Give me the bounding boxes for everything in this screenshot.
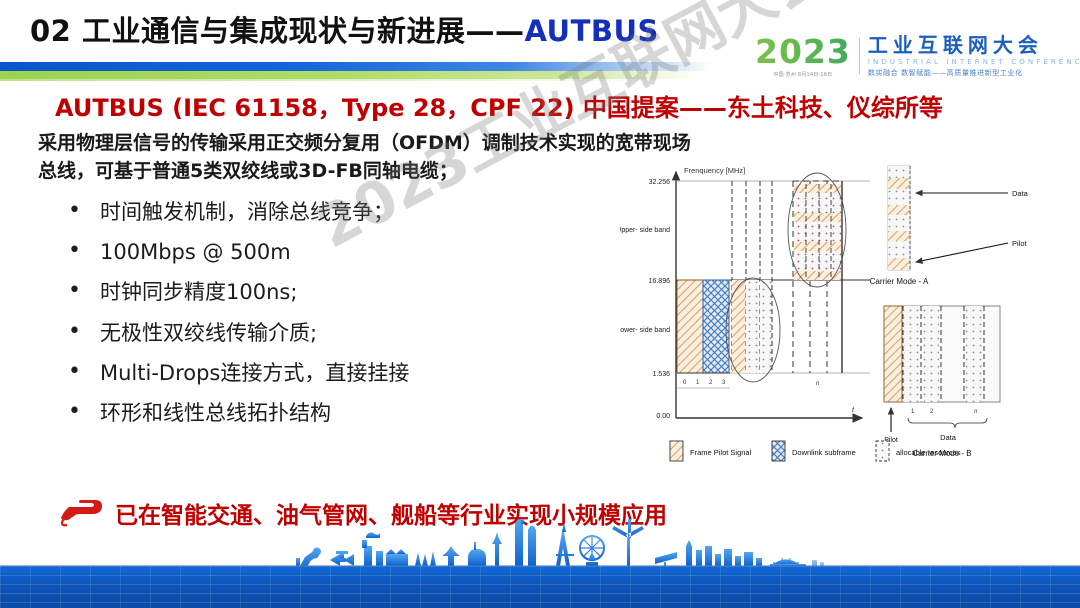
header-divider-blue [0, 62, 712, 71]
list-item: 环形和线性总线拓扑结构 [60, 401, 480, 426]
footer-grid-pattern [0, 566, 1080, 608]
y-tick-0: 0.00 [656, 413, 670, 420]
sc-tick-2: 2 [709, 380, 713, 386]
figure-legend: Frame Pilot Signal Downlink subframe all… [670, 441, 961, 461]
slide: 02 工业通信与集成现状与新进展——AUTBUS 2023 中国·苏州 8月14… [0, 0, 1080, 608]
page-title: 02 工业通信与集成现状与新进展——AUTBUS [30, 8, 659, 50]
cm-b-tick-1: 1 [911, 409, 915, 415]
y-tick-1536: 1.536 [652, 371, 670, 378]
list-item: 时钟同步精度100ns; [60, 280, 480, 305]
logo-divider [859, 38, 860, 74]
title-en: AUTBUS [524, 14, 658, 48]
carrier-mode-a-figure: Data Pilot Carrier Mode - A [870, 166, 1029, 286]
section-number: 02 [30, 14, 71, 48]
list-item: 时间触发机制，消除总线竞争； [60, 200, 480, 225]
conference-logo: 2023 中国·苏州 8月14日-16日 工业互联网大会 INDUSTRIAL … [755, 32, 1080, 80]
label-data-b: Data [940, 433, 957, 442]
header-divider-green [0, 71, 700, 79]
list-item: 100Mbps @ 500m [60, 240, 480, 265]
logo-name-en: INDUSTRIAL INTERNET CONFERENCE [868, 58, 1080, 66]
footer-decoration [0, 518, 1080, 608]
feature-bullet-list: 时间触发机制，消除总线竞争； 100Mbps @ 500m 时钟同步精度100n… [60, 200, 480, 441]
logo-year: 2023 [755, 35, 851, 68]
logo-name-cn: 工业互联网大会 [868, 35, 1080, 56]
axis-label-x: t [852, 405, 855, 414]
section-subtitle: AUTBUS (IEC 61158，Type 28，CPF 22) 中国提案——… [55, 88, 943, 123]
header-divider-thin [0, 79, 690, 81]
label-data-a: Data [1012, 189, 1029, 198]
logo-year-subtitle: 中国·苏州 8月14日-16日 [773, 71, 832, 78]
logo-year-block: 2023 中国·苏州 8月14日-16日 [755, 35, 859, 78]
carrier-mode-b-figure: Pilot 1 2 n Data Carrier Mode - B [884, 306, 1000, 458]
axis-label-y: Frenquency [MHz] [684, 166, 745, 175]
y-tick-16896: 16.896 [649, 278, 671, 285]
sc-tick-3: 3 [722, 380, 726, 386]
y-tick-32256: 32.256 [649, 179, 671, 186]
carrier-mode-a-title: Carrier Mode - A [870, 277, 929, 286]
logo-text-block: 工业互联网大会 INDUSTRIAL INTERNET CONFERENCE 数… [868, 35, 1080, 78]
band-label-upper: Upper- side band [620, 227, 670, 234]
legend-label-downlink-subframe: Downlink subframe [792, 448, 856, 457]
logo-slogan: 数实融合 数智赋能——高质量推进新型工业化 [868, 68, 1080, 78]
legend-label-frame-pilot-signal: Frame Pilot Signal [690, 448, 752, 457]
sc-tick-0: 0 [683, 380, 687, 386]
label-pilot-a: Pilot [1012, 239, 1028, 248]
legend-label-allocable-resources: allocable resources [896, 448, 961, 457]
band-label-lower: Lower- side band [620, 327, 670, 334]
ofdm-frequency-diagram: Frenquency [MHz] t 32.256 16.896 1.536 0… [620, 160, 1040, 470]
title-cn: 工业通信与集成现状与新进展—— [71, 14, 524, 48]
sc-tick-n: n [816, 381, 820, 387]
cm-b-tick-2: 2 [930, 409, 934, 415]
lead-paragraph: 采用物理层信号的传输采用正交频分复用（OFDM）调制技术实现的宽带现场总线，可基… [38, 130, 698, 185]
list-item: Multi-Drops连接方式，直接挂接 [60, 361, 480, 386]
cm-b-tick-n: n [974, 409, 978, 415]
list-item: 无极性双绞线传输介质; [60, 321, 480, 346]
sc-tick-1: 1 [696, 380, 700, 386]
